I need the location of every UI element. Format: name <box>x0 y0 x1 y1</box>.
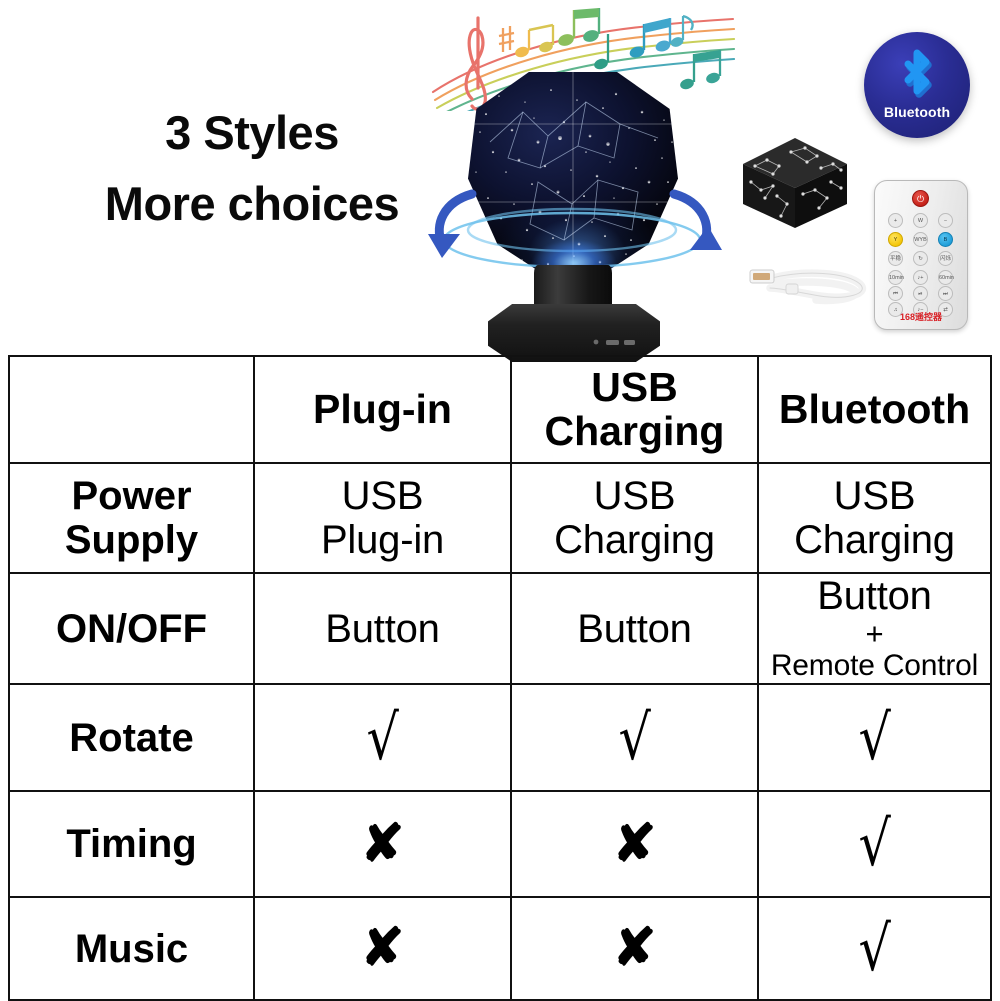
table-row: Timing ✘ ✘ √ <box>9 791 991 897</box>
remote-wyb-button[interactable]: WYB <box>913 232 928 247</box>
remote-power-button[interactable]: ⏻ <box>912 190 929 207</box>
cell-music-bluetooth: √ <box>758 897 991 1000</box>
remote-next-button[interactable]: ⏭ <box>938 286 953 301</box>
comparison-table: Plug-in USB Charging Bluetooth Power Sup… <box>8 355 992 1001</box>
column-header-usb-charging-line2: Charging <box>516 410 753 453</box>
check-mark-icon: √ <box>858 921 890 977</box>
row-label-rotate: Rotate <box>9 684 254 791</box>
row-label-power-supply: Power Supply <box>9 463 254 573</box>
cell-on-off-bluetooth-line3: Remote Control <box>763 649 986 683</box>
lamp-base <box>488 304 660 362</box>
table-row: ON/OFF Button Button Button + Remote Con… <box>9 573 991 684</box>
cell-timing-usb-charging: ✘ <box>511 791 758 897</box>
cell-power-supply-plug-in-line2: Plug-in <box>259 518 506 562</box>
remote-rotate-button[interactable]: ↻ <box>913 251 928 266</box>
remote-model-label: 168遥控器 <box>875 310 967 323</box>
usb-cable <box>742 248 882 318</box>
table-corner-cell <box>9 356 254 463</box>
column-header-plug-in: Plug-in <box>254 356 511 463</box>
row-label-power-supply-line2: Supply <box>14 518 249 562</box>
headline-line-1: 3 Styles <box>52 97 452 168</box>
star-projector-lamp <box>448 72 698 357</box>
column-header-bluetooth: Bluetooth <box>758 356 991 463</box>
check-mark-icon: √ <box>858 710 890 766</box>
column-header-usb-charging: USB Charging <box>511 356 758 463</box>
remote-play-button[interactable]: ⏯ <box>913 286 928 301</box>
cross-mark-icon: ✘ <box>361 925 405 972</box>
cell-power-supply-bluetooth: USB Charging <box>758 463 991 573</box>
remote-blue-button[interactable]: B <box>938 232 953 247</box>
row-label-power-supply-line1: Power <box>14 474 249 518</box>
cross-mark-icon: ✘ <box>613 821 657 868</box>
bluetooth-badge: Bluetooth <box>864 32 970 138</box>
remote-timer-10min-button[interactable]: 10min <box>888 270 903 285</box>
cell-on-off-bluetooth-plus: + <box>763 618 986 649</box>
remote-yellow-button[interactable]: Y <box>888 232 903 247</box>
cell-on-off-bluetooth: Button + Remote Control <box>758 573 991 684</box>
cell-power-supply-usb-charging-line2: Charging <box>516 518 753 562</box>
cell-power-supply-usb-charging-line1: USB <box>516 474 753 518</box>
check-mark-icon: √ <box>366 710 398 766</box>
cell-rotate-bluetooth: √ <box>758 684 991 791</box>
remote-plus-button[interactable]: + <box>888 213 903 228</box>
bluetooth-badge-label: Bluetooth <box>864 104 970 120</box>
cell-power-supply-plug-in-line1: USB <box>259 474 506 518</box>
check-mark-icon: √ <box>618 710 650 766</box>
cell-power-supply-plug-in: USB Plug-in <box>254 463 511 573</box>
bluetooth-icon <box>892 46 942 108</box>
cell-on-off-usb-charging: Button <box>511 573 758 684</box>
remote-w-button[interactable]: W <box>913 213 928 228</box>
cell-music-usb-charging: ✘ <box>511 897 758 1000</box>
page-title: 3 Styles More choices <box>52 97 452 240</box>
cell-timing-plug-in: ✘ <box>254 791 511 897</box>
cell-music-plug-in: ✘ <box>254 897 511 1000</box>
cell-rotate-plug-in: √ <box>254 684 511 791</box>
cell-on-off-bluetooth-line1: Button <box>763 574 986 618</box>
cell-power-supply-usb-charging: USB Charging <box>511 463 758 573</box>
cross-mark-icon: ✘ <box>613 925 657 972</box>
cell-power-supply-bluetooth-line1: USB <box>763 474 986 518</box>
cross-mark-icon: ✘ <box>361 821 405 868</box>
product-box <box>735 130 855 235</box>
row-label-timing: Timing <box>9 791 254 897</box>
cell-rotate-usb-charging: √ <box>511 684 758 791</box>
table-row: Power Supply USB Plug-in USB Charging US… <box>9 463 991 573</box>
table-row: Rotate √ √ √ <box>9 684 991 791</box>
remote-control: ⏻ + W − Y WYB B 平稳 ↻ 闪烁 10min ♪+ 60min ⏮… <box>874 180 968 330</box>
remote-volume-up-button[interactable]: ♪+ <box>913 270 928 285</box>
remote-minus-button[interactable]: − <box>938 213 953 228</box>
headline-line-2: More choices <box>52 168 452 239</box>
check-mark-icon: √ <box>858 816 890 872</box>
cell-timing-bluetooth: √ <box>758 791 991 897</box>
row-label-music: Music <box>9 897 254 1000</box>
cell-on-off-plug-in: Button <box>254 573 511 684</box>
comparison-table-container: Plug-in USB Charging Bluetooth Power Sup… <box>8 355 990 991</box>
remote-previous-button[interactable]: ⏮ <box>888 286 903 301</box>
remote-timer-60min-button[interactable]: 60min <box>938 270 953 285</box>
hero-section: 3 Styles More choices <box>0 0 1000 355</box>
column-header-usb-charging-line1: USB <box>516 366 753 409</box>
cell-power-supply-bluetooth-line2: Charging <box>763 518 986 562</box>
row-label-on-off: ON/OFF <box>9 573 254 684</box>
table-header-row: Plug-in USB Charging Bluetooth <box>9 356 991 463</box>
remote-flash-button[interactable]: 闪烁 <box>938 251 953 266</box>
remote-steady-button[interactable]: 平稳 <box>888 251 903 266</box>
table-row: Music ✘ ✘ √ <box>9 897 991 1000</box>
